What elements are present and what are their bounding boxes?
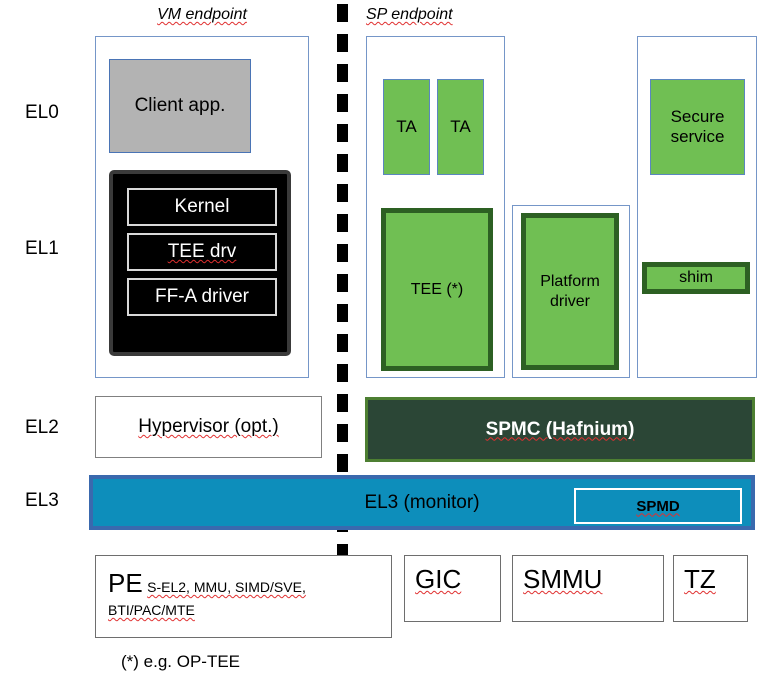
tee-box[interactable]: TEE (*) (381, 208, 493, 371)
ffa-driver-label: FF-A driver (155, 286, 249, 308)
tee-driver-label: TEE drv (168, 241, 237, 263)
secure-service-label-line1: Secure (671, 107, 725, 127)
pe-sub-line2: BTI/PAC/MTE (108, 601, 383, 620)
client-app-box[interactable]: Client app. (109, 59, 251, 153)
kernel-stack-container: Kernel TEE drv FF-A driver (109, 170, 291, 356)
shim-box[interactable]: shim (642, 262, 750, 294)
tee-driver-box[interactable]: TEE drv (127, 233, 277, 271)
smmu-title: SMMU (523, 564, 602, 595)
el3-monitor-box[interactable]: EL3 (monitor) SPMD (89, 475, 755, 530)
trusted-app-box-2[interactable]: TA (437, 79, 484, 175)
secure-service-label-line2: service (671, 127, 725, 147)
pe-sub-line1: S-EL2, MMU, SIMD/SVE, (147, 579, 306, 595)
spmd-label: SPMD (636, 498, 679, 515)
smmu-hardware-box[interactable]: SMMU (512, 555, 664, 622)
vm-endpoint-caption-text: VM endpoint (157, 6, 247, 23)
vm-endpoint-caption: VM endpoint (95, 6, 309, 24)
pe-text-group: PE S-EL2, MMU, SIMD/SVE, BTI/PAC/MTE (108, 568, 383, 620)
kernel-box[interactable]: Kernel (127, 188, 277, 226)
gic-hardware-box[interactable]: GIC (404, 555, 501, 622)
trusted-app-label-1: TA (396, 117, 416, 137)
architecture-diagram: VM endpoint SP endpoint EL0 EL1 EL2 EL3 … (0, 0, 784, 686)
tz-title: TZ (684, 564, 716, 595)
shim-label: shim (679, 269, 713, 287)
client-app-label: Client app. (135, 95, 226, 117)
level-label-el0: EL0 (25, 102, 59, 124)
trusted-app-box-1[interactable]: TA (383, 79, 430, 175)
spmc-box[interactable]: SPMC (Hafnium) (365, 397, 755, 462)
trusted-app-label-2: TA (450, 117, 470, 137)
pe-hardware-box[interactable]: PE S-EL2, MMU, SIMD/SVE, BTI/PAC/MTE (95, 555, 392, 638)
sp-endpoint-caption-text: SP endpoint (366, 6, 453, 23)
hypervisor-label: Hypervisor (opt.) (138, 416, 278, 438)
level-label-el2: EL2 (25, 417, 59, 439)
ffa-driver-box[interactable]: FF-A driver (127, 278, 277, 316)
pe-title: PE (108, 568, 143, 598)
tee-label: TEE (*) (411, 280, 463, 299)
spmc-label: SPMC (Hafnium) (486, 419, 635, 441)
platform-driver-box[interactable]: Platform driver (521, 213, 619, 370)
level-label-el3: EL3 (25, 490, 59, 512)
tz-hardware-box[interactable]: TZ (673, 555, 748, 622)
footnote-op-tee: (*) e.g. OP-TEE (121, 652, 240, 672)
level-label-el1: EL1 (25, 238, 59, 260)
platform-driver-label-line1: Platform (540, 272, 600, 291)
hypervisor-box[interactable]: Hypervisor (opt.) (95, 396, 322, 458)
gic-title: GIC (415, 564, 461, 595)
sp-endpoint-caption: SP endpoint (366, 6, 586, 24)
secure-service-box[interactable]: Secure service (650, 79, 745, 175)
kernel-label: Kernel (175, 196, 230, 218)
platform-driver-label-line2: driver (550, 292, 590, 311)
spmd-box[interactable]: SPMD (574, 488, 742, 524)
